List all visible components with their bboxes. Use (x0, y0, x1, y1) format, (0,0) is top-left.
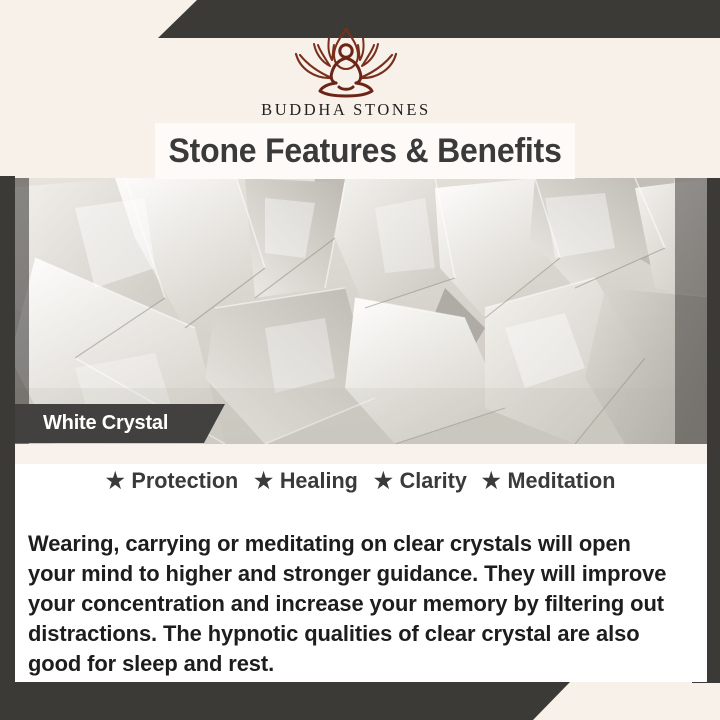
benefits-list: ★ Protection ★ Healing ★ Clarity ★ Medit… (15, 468, 707, 494)
benefit-label: Meditation (508, 468, 616, 494)
benefit-label: Healing (280, 468, 358, 494)
poster: BUDDHA STONES Stone Features & Benefits (0, 0, 720, 720)
page-title: Stone Features & Benefits (168, 132, 561, 171)
benefit-label: Clarity (399, 468, 466, 494)
star-icon: ★ (106, 470, 125, 492)
photo-caption-label: White Crystal (15, 412, 168, 435)
title-banner: Stone Features & Benefits (155, 123, 575, 179)
brand-name: BUDDHA STONES (261, 100, 431, 120)
content-card: ★ Protection ★ Healing ★ Clarity ★ Medit… (15, 444, 707, 682)
card-top-strip (15, 444, 707, 464)
body-description: Wearing, carrying or meditating on clear… (28, 529, 670, 679)
benefit-item-healing: ★ Healing (255, 468, 359, 494)
brand-logo: BUDDHA STONES (0, 24, 692, 120)
photo-caption-chip: White Crystal (15, 404, 225, 443)
star-icon: ★ (373, 470, 392, 492)
frame-right-top-cover (692, 38, 720, 178)
frame-bottom-band (0, 682, 720, 720)
benefit-item-protection: ★ Protection (106, 468, 238, 494)
benefit-item-meditation: ★ Meditation (482, 468, 616, 494)
benefit-label: Protection (132, 468, 239, 494)
star-icon: ★ (255, 470, 274, 492)
lotus-meditation-icon (270, 24, 422, 98)
star-icon: ★ (482, 470, 501, 492)
benefit-item-clarity: ★ Clarity (373, 468, 466, 494)
